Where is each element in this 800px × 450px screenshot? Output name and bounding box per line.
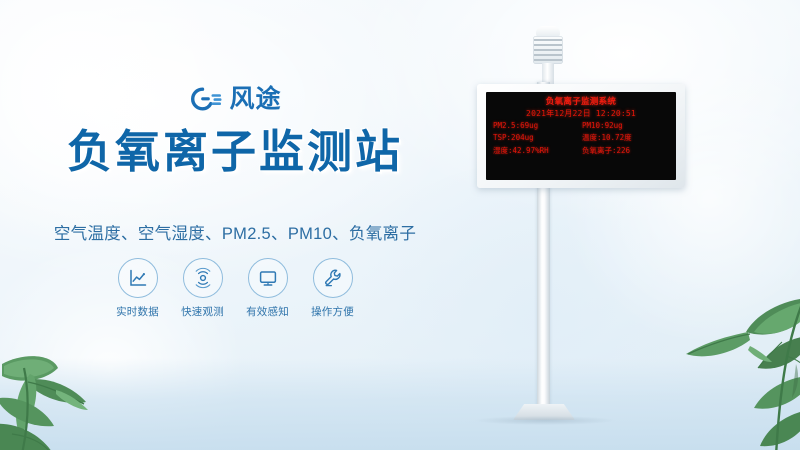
led-screen: 负氧离子监测系统 2021年12月22日 12:20:51 PM2.5:69ug… — [486, 92, 676, 180]
hero-subtitle: 空气温度、空气湿度、PM2.5、PM10、负氧离子 — [0, 220, 470, 244]
led-display-panel[interactable]: 负氧离子监测系统 2021年12月22日 12:20:51 PM2.5:69ug… — [477, 84, 685, 188]
promo-banner: 风途 负氧离子监测站 空气温度、空气湿度、PM2.5、PM10、负氧离子 实时数… — [0, 0, 800, 450]
feature-label: 快速观测 — [181, 304, 224, 319]
monitoring-station: 负氧离子监测系统 2021年12月22日 12:20:51 PM2.5:69ug… — [455, 0, 705, 450]
feature-item-fast-observation[interactable]: 快速观测 — [182, 258, 224, 319]
led-reading-pm10: PM10:92ug — [582, 120, 669, 131]
led-reading-pm25: PM2.5:69ug — [493, 120, 580, 131]
wind-speed-g-logo-icon — [188, 86, 222, 112]
feature-item-effective-sensing[interactable]: 有效感知 — [247, 258, 289, 319]
wrench-icon — [313, 258, 353, 298]
led-reading-tsp: TSP:204ug — [493, 132, 580, 143]
feature-label: 有效感知 — [246, 304, 289, 319]
radiation-shield-sensor-icon — [529, 26, 567, 86]
monitor-icon — [248, 258, 288, 298]
feature-item-easy-operation[interactable]: 操作方便 — [312, 258, 354, 319]
led-screen-title: 负氧离子监测系统 — [493, 97, 669, 108]
brand-name: 风途 — [229, 87, 281, 112]
led-reading-negative-oxygen-ions: 负氧离子:226 — [582, 145, 669, 156]
led-reading-temperature: 温度:10.72度 — [582, 132, 669, 143]
led-reading-humidity: 湿度:42.97%RH — [493, 145, 580, 156]
radar-sensor-icon — [183, 258, 223, 298]
led-readings-grid: PM2.5:69ug PM10:92ug TSP:204ug 温度:10.72度… — [493, 120, 669, 156]
line-chart-icon — [118, 258, 158, 298]
green-leaf-plant-icon — [676, 280, 800, 450]
feature-label: 操作方便 — [311, 304, 354, 319]
page-title: 负氧离子监测站 — [0, 128, 470, 175]
sensor-louvers — [533, 36, 563, 64]
brand-logo: 风途 — [0, 86, 470, 112]
led-datetime: 2021年12月22日 12:20:51 — [493, 108, 669, 120]
base-shadow — [475, 416, 615, 425]
green-leaf-plant-icon — [0, 306, 144, 450]
